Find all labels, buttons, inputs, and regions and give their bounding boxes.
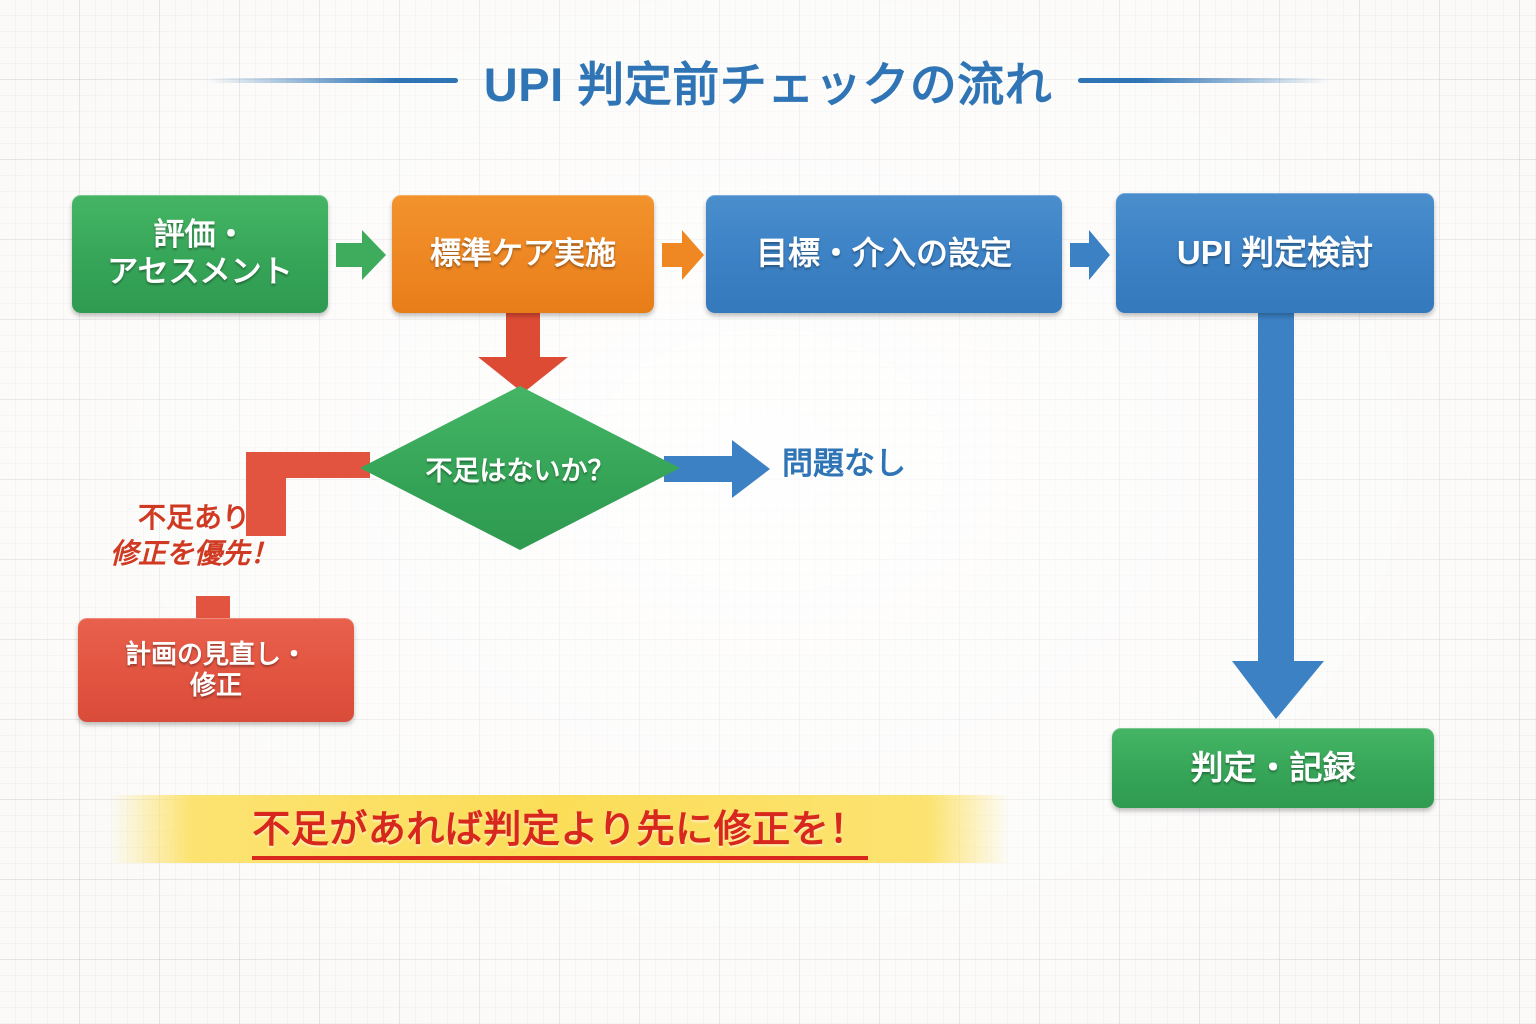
arrow-assessment-to-care xyxy=(336,228,386,282)
label-shortage-priority: 不足あり 修正を優先！ xyxy=(84,500,304,573)
node-plan-revision-label: 計画の見直し・ 修正 xyxy=(115,639,317,700)
label-shortage-line2: 修正を優先！ xyxy=(110,538,278,569)
diagram-canvas: UPI 判定前チェックの流れ 評価・ アセスメント 標準ケア実施 目標・介入の設… xyxy=(0,0,1536,1024)
title-rule-right xyxy=(1078,78,1328,83)
node-assessment-label: 評価・ アセスメント xyxy=(97,217,302,290)
node-assessment[interactable]: 評価・ アセスメント xyxy=(72,195,328,313)
node-goal-intervention-label: 目標・介入の設定 xyxy=(746,235,1022,273)
label-no-problem: 問題なし xyxy=(782,438,906,483)
node-standard-care[interactable]: 標準ケア実施 xyxy=(392,195,654,313)
node-upi-review-label: UPI 判定検討 xyxy=(1167,234,1383,273)
arrow-care-to-goal xyxy=(662,228,704,282)
node-decision-shortage-label: 不足はないか？ xyxy=(360,386,680,550)
page-title: UPI 判定前チェックの流れ xyxy=(484,46,1052,115)
node-goal-intervention[interactable]: 目標・介入の設定 xyxy=(706,195,1062,313)
title-rule-left xyxy=(208,78,458,83)
label-shortage-line1: 不足あり xyxy=(138,502,250,533)
callout-banner: 不足があれば判定より先に修正を！ xyxy=(110,795,1010,863)
callout-banner-text: 不足があれば判定より先に修正を！ xyxy=(252,798,867,860)
node-judgement-record[interactable]: 判定・記録 xyxy=(1112,728,1434,808)
title-block: UPI 判定前チェックの流れ xyxy=(0,44,1536,116)
node-plan-revision[interactable]: 計画の見直し・ 修正 xyxy=(78,618,354,722)
node-upi-review[interactable]: UPI 判定検討 xyxy=(1116,193,1434,313)
arrow-goal-to-upi xyxy=(1070,228,1110,282)
node-standard-care-label: 標準ケア実施 xyxy=(420,236,626,273)
node-judgement-record-label: 判定・記録 xyxy=(1181,749,1366,788)
arrow-care-to-decision xyxy=(478,313,568,393)
arrow-upi-to-record xyxy=(1232,313,1324,719)
node-decision-shortage[interactable]: 不足はないか？ xyxy=(360,386,680,550)
